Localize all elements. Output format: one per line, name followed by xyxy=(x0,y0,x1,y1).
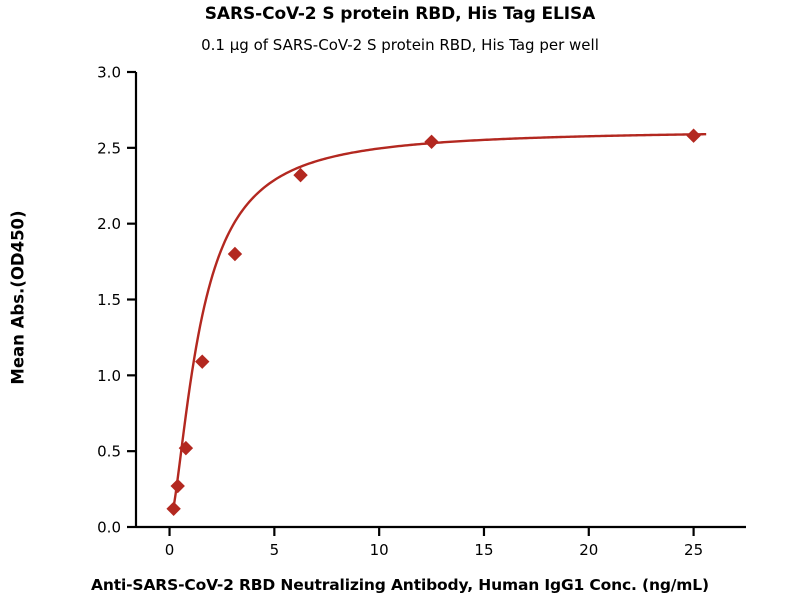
data-point xyxy=(171,479,185,493)
x-tick-label: 15 xyxy=(474,541,493,559)
data-point xyxy=(424,135,438,149)
plot-area: 0.00.51.01.52.02.53.0 0510152025 xyxy=(0,0,800,600)
y-tick-label: 0.5 xyxy=(97,443,121,461)
x-tick-label: 10 xyxy=(370,541,389,559)
x-tick-label: 5 xyxy=(270,541,280,559)
y-tick-label: 0.0 xyxy=(97,519,121,537)
y-tick-label: 2.0 xyxy=(97,215,121,233)
data-point xyxy=(686,129,700,143)
y-tick-label: 2.5 xyxy=(97,139,121,157)
y-tick-label: 1.0 xyxy=(97,367,121,385)
chart-container: SARS-CoV-2 S protein RBD, His Tag ELISA … xyxy=(0,0,800,600)
x-tick-label: 0 xyxy=(165,541,175,559)
y-tick-label: 3.0 xyxy=(97,64,121,82)
data-point xyxy=(228,247,242,261)
data-point xyxy=(166,502,180,516)
x-tick-group: 0510152025 xyxy=(165,527,703,559)
fit-curve xyxy=(174,134,707,507)
data-point xyxy=(195,354,209,368)
x-tick-label: 25 xyxy=(684,541,703,559)
y-tick-group: 0.00.51.01.52.02.53.0 xyxy=(97,64,136,537)
axes-group xyxy=(136,72,746,527)
y-tick-label: 1.5 xyxy=(97,291,121,309)
data-point-group xyxy=(166,129,700,517)
x-tick-label: 20 xyxy=(579,541,598,559)
